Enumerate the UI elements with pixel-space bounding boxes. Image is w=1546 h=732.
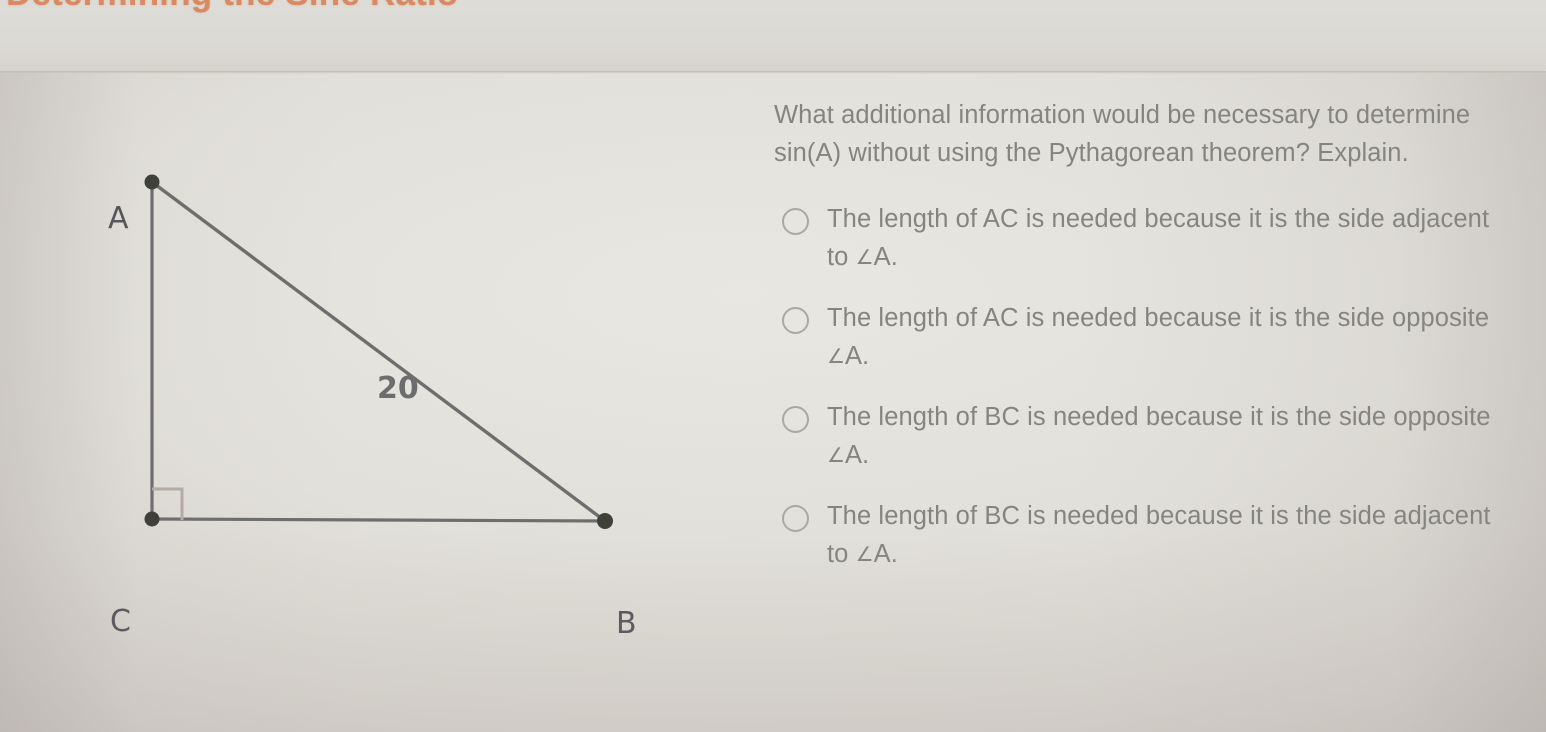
hypotenuse-length-label: 20 xyxy=(377,371,419,406)
answer-option-1[interactable]: The length of AC is needed because it is… xyxy=(774,200,1504,277)
question-prompt: What additional information would be nec… xyxy=(774,96,1474,172)
radio-button-icon[interactable] xyxy=(782,208,809,235)
radio-button-icon[interactable] xyxy=(782,307,809,334)
vertex-label-c: C xyxy=(110,604,131,639)
vertex-dot-c xyxy=(145,512,160,527)
vertex-label-b: B xyxy=(616,606,637,641)
triangle-figure: A B C 20 xyxy=(0,72,760,732)
answer-option-3[interactable]: The length of BC is needed because it is… xyxy=(774,398,1504,475)
angle-symbol-icon: ∠ xyxy=(827,346,845,368)
answer-option-4[interactable]: The length of BC is needed because it is… xyxy=(774,497,1504,574)
answer-option-2-label: The length of AC is needed because it is… xyxy=(827,299,1503,376)
question-pane: What additional information would be nec… xyxy=(774,96,1504,596)
page-title: Determining the Sine Ratio xyxy=(6,0,458,14)
option-2-text-pre: The length of AC is needed because it is… xyxy=(827,304,1489,332)
answer-option-3-label: The length of BC is needed because it is… xyxy=(827,398,1503,475)
vertex-label-a: A xyxy=(108,201,129,236)
radio-button-icon[interactable] xyxy=(782,505,809,532)
vertex-dot-a xyxy=(145,175,160,190)
option-2-text-post: A. xyxy=(845,342,869,370)
option-1-text-pre: The length of AC is needed because it is… xyxy=(827,205,1489,271)
option-4-text-pre: The length of BC is needed because it is… xyxy=(827,502,1491,568)
option-3-text-pre: The length of BC is needed because it is… xyxy=(827,403,1491,431)
radio-button-icon[interactable] xyxy=(782,406,809,433)
angle-symbol-icon: ∠ xyxy=(856,247,874,269)
answer-option-2[interactable]: The length of AC is needed because it is… xyxy=(774,299,1504,376)
option-1-text-post: A. xyxy=(874,243,898,271)
answer-option-1-label: The length of AC is needed because it is… xyxy=(827,200,1503,277)
angle-symbol-icon: ∠ xyxy=(856,544,874,566)
option-4-text-post: A. xyxy=(874,540,898,568)
answer-option-4-label: The length of BC is needed because it is… xyxy=(827,497,1503,574)
segment-cb xyxy=(152,519,605,521)
header-band: Determining the Sine Ratio xyxy=(0,0,1546,72)
segment-ab-hypotenuse xyxy=(152,182,605,521)
screenshot-root: Determining the Sine Ratio A B C 20 What… xyxy=(0,0,1546,732)
option-3-text-post: A. xyxy=(845,441,869,469)
answer-options-list: The length of AC is needed because it is… xyxy=(774,200,1504,574)
vertex-dot-b xyxy=(597,513,613,529)
angle-symbol-icon: ∠ xyxy=(827,445,845,467)
